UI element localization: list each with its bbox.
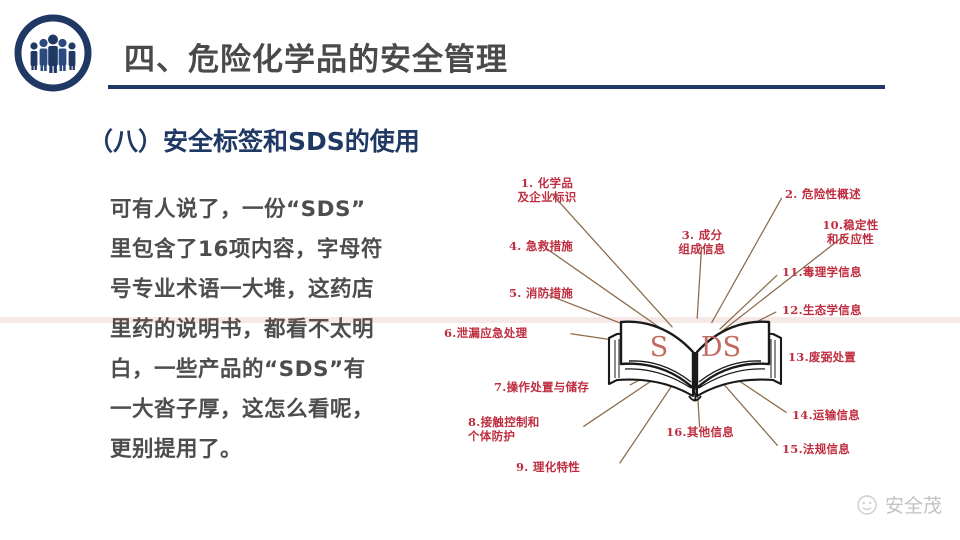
body-line: 里包含了16项内容，字母符 <box>110 230 430 270</box>
diagram-label-6: 6.泄漏应急处理 <box>444 326 564 340</box>
body-line: 白，一些产品的“SDS”有 <box>110 350 430 390</box>
diagram-label-10: 10.稳定性 和反应性 <box>798 218 903 246</box>
diagram-label-8: 8.接触控制和 个体防护 <box>468 415 578 443</box>
diagram-label-7: 7.操作处置与储存 <box>494 380 624 394</box>
body-line: 更别提用了。 <box>110 430 430 470</box>
diagram-label-16: 16.其他信息 <box>650 425 750 439</box>
body-line: 可有人说了，一份“SDS” <box>110 190 430 230</box>
diagram-label-9: 9. 理化特性 <box>516 460 616 474</box>
diagram-label-4: 4. 急救措施 <box>486 239 596 253</box>
body-paragraph: 可有人说了，一份“SDS” 里包含了16项内容，字母符 号专业术语一大堆，这药店… <box>110 190 430 470</box>
diagram-label-11: 11.毒理学信息 <box>782 265 902 279</box>
diagram-label-1: 1. 化学品 及企业标识 <box>492 176 602 204</box>
diagram-label-3: 3. 成分 组成信息 <box>652 228 752 256</box>
people-group-icon <box>14 14 92 92</box>
diagram-label-15: 15.法规信息 <box>782 442 892 456</box>
book-letter-left: S <box>650 332 669 363</box>
page-title: 四、危险化学品的安全管理 <box>124 34 508 79</box>
smiley-face-icon <box>856 494 878 516</box>
section-subtitle: （八）安全标签和SDS的使用 <box>88 122 420 158</box>
diagram-label-2: 2. 危险性概述 <box>785 187 900 201</box>
book-letter-right: DS <box>701 332 741 363</box>
body-line: 一大沓子厚，这怎么看呢， <box>110 390 430 430</box>
header-divider <box>108 85 885 89</box>
diagram-label-12: 12.生态学信息 <box>782 303 902 317</box>
body-line: 号专业术语一大堆，这药店 <box>110 270 430 310</box>
diagram-label-13: 13.废弼处置 <box>788 350 898 364</box>
watermark-badge: 安全茂 <box>856 491 942 518</box>
body-line: 里药的说明书，都看不太明 <box>110 310 430 350</box>
sds-radial-diagram: S DS 1. 化学品 及企业标识4. 急救措施5. 消防措施6.泄漏应急处理7… <box>430 160 960 490</box>
diagram-label-5: 5. 消防措施 <box>486 286 596 300</box>
slide-canvas: 四、危险化学品的安全管理 （八）安全标签和SDS的使用 可有人说了，一份“SDS… <box>0 0 960 540</box>
watermark-label: 安全茂 <box>885 491 942 518</box>
diagram-label-14: 14.运输信息 <box>792 408 902 422</box>
